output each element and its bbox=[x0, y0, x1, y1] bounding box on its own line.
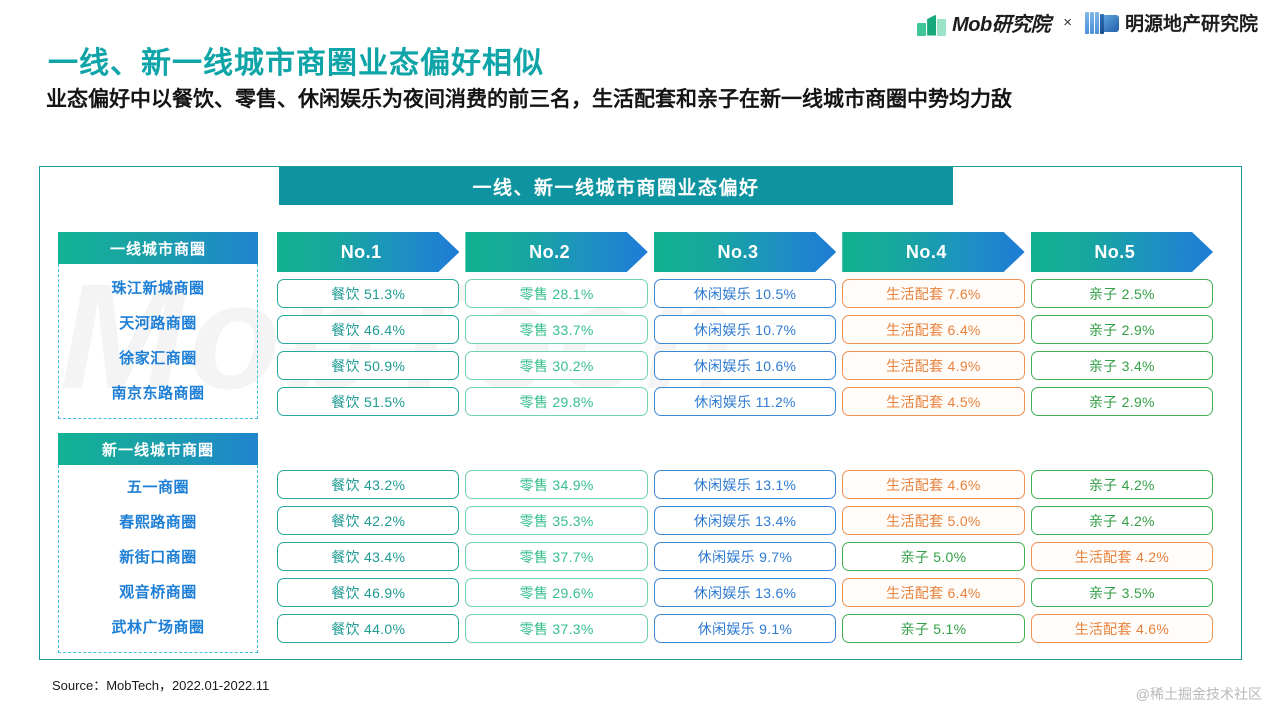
preference-cell-retail[interactable]: 零售 37.3% bbox=[465, 614, 647, 643]
preference-cell-food[interactable]: 餐饮 51.3% bbox=[277, 279, 459, 308]
table-row: 餐饮 44.0%零售 37.3%休闲娱乐 9.1%亲子 5.1%生活配套 4.6… bbox=[277, 614, 1213, 643]
mob-logo-text: Mob研究院 bbox=[952, 8, 1050, 37]
table-row: 餐饮 50.9%零售 30.2%休闲娱乐 10.6%生活配套 4.9%亲子 3.… bbox=[277, 351, 1213, 380]
preference-cell-retail[interactable]: 零售 34.9% bbox=[465, 470, 647, 499]
preference-cell-retail[interactable]: 零售 29.8% bbox=[465, 387, 647, 416]
source-note: Source：MobTech，2022.01-2022.11 bbox=[52, 675, 269, 694]
preference-cell-kids[interactable]: 亲子 2.5% bbox=[1031, 279, 1213, 308]
preference-cell-food[interactable]: 餐饮 44.0% bbox=[277, 614, 459, 643]
book-pages-icon bbox=[1085, 10, 1119, 36]
preference-cell-life[interactable]: 生活配套 7.6% bbox=[842, 279, 1024, 308]
preference-cell-kids[interactable]: 亲子 4.2% bbox=[1031, 470, 1213, 499]
mingyuan-logo: 明源地产研究院 bbox=[1085, 9, 1258, 36]
district-label[interactable]: 五一商圈 bbox=[59, 469, 257, 504]
preference-cell-food[interactable]: 餐饮 51.5% bbox=[277, 387, 459, 416]
preference-cell-leisure[interactable]: 休闲娱乐 11.2% bbox=[654, 387, 836, 416]
preference-cell-retail[interactable]: 零售 33.7% bbox=[465, 315, 647, 344]
rank-header-2: No.2 bbox=[465, 232, 647, 272]
preference-cell-retail[interactable]: 零售 30.2% bbox=[465, 351, 647, 380]
data-grid-tier1: 餐饮 51.3%零售 28.1%休闲娱乐 10.5%生活配套 7.6%亲子 2.… bbox=[277, 279, 1213, 423]
preference-cell-leisure[interactable]: 休闲娱乐 13.6% bbox=[654, 578, 836, 607]
table-row: 餐饮 46.9%零售 29.6%休闲娱乐 13.6%生活配套 6.4%亲子 3.… bbox=[277, 578, 1213, 607]
district-label[interactable]: 春熙路商圈 bbox=[59, 504, 257, 539]
preference-cell-food[interactable]: 餐饮 42.2% bbox=[277, 506, 459, 535]
district-label[interactable]: 天河路商圈 bbox=[59, 305, 257, 340]
district-label[interactable]: 新街口商圈 bbox=[59, 539, 257, 574]
preference-cell-life[interactable]: 生活配套 5.0% bbox=[842, 506, 1024, 535]
logo-bar: Mob研究院 × 明源地产研究院 bbox=[917, 8, 1258, 37]
district-label[interactable]: 南京东路商圈 bbox=[59, 375, 257, 410]
table-row: 餐饮 51.3%零售 28.1%休闲娱乐 10.5%生活配套 7.6%亲子 2.… bbox=[277, 279, 1213, 308]
preference-cell-kids[interactable]: 亲子 3.5% bbox=[1031, 578, 1213, 607]
preference-cell-kids[interactable]: 亲子 5.1% bbox=[842, 614, 1024, 643]
panel-title: 一线、新一线城市商圈业态偏好 bbox=[279, 167, 953, 205]
preference-cell-retail[interactable]: 零售 35.3% bbox=[465, 506, 647, 535]
preference-cell-leisure[interactable]: 休闲娱乐 9.7% bbox=[654, 542, 836, 571]
page-title: 一线、新一线城市商圈业态偏好相似 bbox=[48, 38, 544, 82]
credit-watermark: @稀土掘金技术社区 bbox=[1136, 684, 1262, 704]
preference-cell-food[interactable]: 餐饮 43.2% bbox=[277, 470, 459, 499]
preference-cell-life[interactable]: 生活配套 4.9% bbox=[842, 351, 1024, 380]
district-label[interactable]: 徐家汇商圈 bbox=[59, 340, 257, 375]
preference-cell-kids[interactable]: 亲子 2.9% bbox=[1031, 387, 1213, 416]
rank-header-3: No.3 bbox=[654, 232, 836, 272]
preference-cell-kids[interactable]: 亲子 3.4% bbox=[1031, 351, 1213, 380]
preference-cell-life[interactable]: 生活配套 4.2% bbox=[1031, 542, 1213, 571]
preference-cell-food[interactable]: 餐饮 43.4% bbox=[277, 542, 459, 571]
preference-cell-life[interactable]: 生活配套 4.6% bbox=[842, 470, 1024, 499]
preference-cell-leisure[interactable]: 休闲娱乐 10.6% bbox=[654, 351, 836, 380]
table-row: 餐饮 43.4%零售 37.7%休闲娱乐 9.7%亲子 5.0%生活配套 4.2… bbox=[277, 542, 1213, 571]
mingyuan-logo-text: 明源地产研究院 bbox=[1125, 9, 1258, 36]
preference-cell-leisure[interactable]: 休闲娱乐 13.1% bbox=[654, 470, 836, 499]
rank-header-5: No.5 bbox=[1031, 232, 1213, 272]
rank-header-row: No.1No.2No.3No.4No.5 bbox=[277, 232, 1213, 272]
preference-cell-kids[interactable]: 亲子 2.9% bbox=[1031, 315, 1213, 344]
district-label[interactable]: 观音桥商圈 bbox=[59, 574, 257, 609]
preference-cell-kids[interactable]: 亲子 5.0% bbox=[842, 542, 1024, 571]
mob-logo: Mob研究院 bbox=[917, 8, 1050, 37]
group-header-newtier1: 新一线城市商圈 bbox=[58, 433, 258, 465]
preference-cell-leisure[interactable]: 休闲娱乐 10.7% bbox=[654, 315, 836, 344]
district-list-tier1: 珠江新城商圈天河路商圈徐家汇商圈南京东路商圈 bbox=[58, 264, 258, 419]
preference-cell-leisure[interactable]: 休闲娱乐 9.1% bbox=[654, 614, 836, 643]
preference-cell-life[interactable]: 生活配套 4.5% bbox=[842, 387, 1024, 416]
preference-cell-life[interactable]: 生活配套 4.6% bbox=[1031, 614, 1213, 643]
preference-cell-retail[interactable]: 零售 28.1% bbox=[465, 279, 647, 308]
preference-cell-food[interactable]: 餐饮 46.9% bbox=[277, 578, 459, 607]
district-label[interactable]: 武林广场商圈 bbox=[59, 609, 257, 644]
district-label[interactable]: 珠江新城商圈 bbox=[59, 270, 257, 305]
data-grid-newtier1: 餐饮 43.2%零售 34.9%休闲娱乐 13.1%生活配套 4.6%亲子 4.… bbox=[277, 470, 1213, 650]
preference-cell-kids[interactable]: 亲子 4.2% bbox=[1031, 506, 1213, 535]
mob-bars-icon bbox=[917, 10, 947, 36]
table-row: 餐饮 42.2%零售 35.3%休闲娱乐 13.4%生活配套 5.0%亲子 4.… bbox=[277, 506, 1213, 535]
preference-cell-food[interactable]: 餐饮 46.4% bbox=[277, 315, 459, 344]
district-list-newtier1: 五一商圈春熙路商圈新街口商圈观音桥商圈武林广场商圈 bbox=[58, 465, 258, 653]
group-block-tier1: 一线城市商圈 珠江新城商圈天河路商圈徐家汇商圈南京东路商圈 bbox=[58, 232, 258, 419]
group-header-tier1: 一线城市商圈 bbox=[58, 232, 258, 264]
content-panel: 一线、新一线城市商圈业态偏好 No.1No.2No.3No.4No.5 一线城市… bbox=[39, 166, 1242, 660]
preference-cell-retail[interactable]: 零售 29.6% bbox=[465, 578, 647, 607]
preference-cell-life[interactable]: 生活配套 6.4% bbox=[842, 315, 1024, 344]
table-row: 餐饮 46.4%零售 33.7%休闲娱乐 10.7%生活配套 6.4%亲子 2.… bbox=[277, 315, 1213, 344]
rank-header-4: No.4 bbox=[842, 232, 1024, 272]
table-row: 餐饮 43.2%零售 34.9%休闲娱乐 13.1%生活配套 4.6%亲子 4.… bbox=[277, 470, 1213, 499]
preference-cell-retail[interactable]: 零售 37.7% bbox=[465, 542, 647, 571]
page-subtitle: 业态偏好中以餐饮、零售、休闲娱乐为夜间消费的前三名，生活配套和亲子在新一线城市商… bbox=[46, 86, 1241, 114]
rank-header-1: No.1 bbox=[277, 232, 459, 272]
group-block-newtier1: 新一线城市商圈 五一商圈春熙路商圈新街口商圈观音桥商圈武林广场商圈 bbox=[58, 433, 258, 653]
preference-cell-life[interactable]: 生活配套 6.4% bbox=[842, 578, 1024, 607]
table-row: 餐饮 51.5%零售 29.8%休闲娱乐 11.2%生活配套 4.5%亲子 2.… bbox=[277, 387, 1213, 416]
logo-separator: × bbox=[1060, 14, 1075, 31]
preference-cell-food[interactable]: 餐饮 50.9% bbox=[277, 351, 459, 380]
preference-cell-leisure[interactable]: 休闲娱乐 10.5% bbox=[654, 279, 836, 308]
preference-cell-leisure[interactable]: 休闲娱乐 13.4% bbox=[654, 506, 836, 535]
